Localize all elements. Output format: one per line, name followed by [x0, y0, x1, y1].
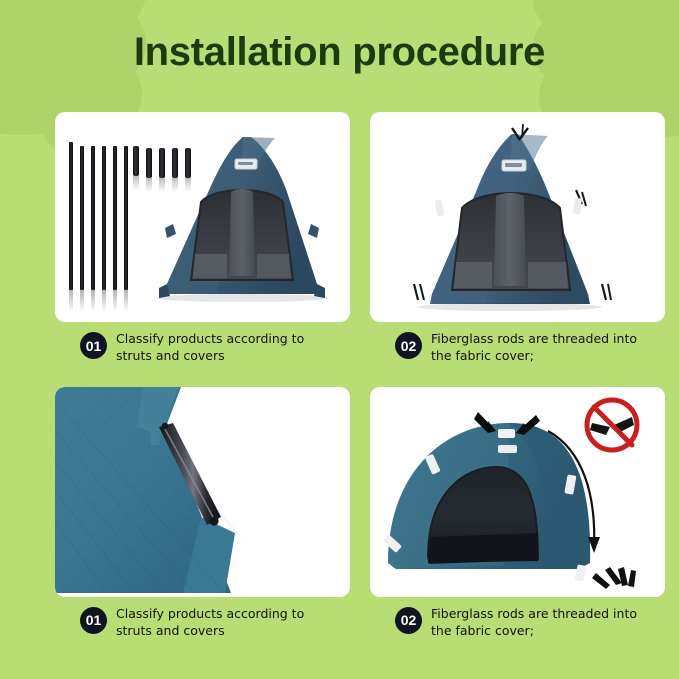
step-caption-text: Fiberglass rods are threaded into the fa… — [431, 606, 646, 640]
step-caption-3: 01 Classify products according to struts… — [55, 606, 350, 640]
paw-toe-icon — [533, 0, 597, 34]
steps-row-top: 01 Classify products according to struts… — [55, 112, 665, 365]
step-card-1: 01 Classify products according to struts… — [55, 112, 350, 365]
poster-root: Installation procedure — [0, 0, 679, 679]
arched-tent-warning-illustration — [370, 387, 665, 597]
impact-burst-icon — [592, 567, 636, 589]
rod-sleeve-closeup-illustration — [55, 387, 350, 597]
step-image-3 — [55, 387, 350, 597]
step-card-3: 01 Classify products according to struts… — [55, 387, 350, 640]
step-caption-text: Classify products according to struts an… — [116, 606, 331, 640]
page-title: Installation procedure — [0, 30, 679, 75]
no-bend-rods-icon — [586, 399, 638, 451]
step-image-4 — [370, 387, 665, 597]
step-number-badge: 02 — [395, 332, 422, 359]
step-image-1 — [55, 112, 350, 322]
steps-grid: 01 Classify products according to struts… — [55, 112, 665, 640]
step-number-badge: 01 — [80, 607, 107, 634]
step-number-badge: 02 — [395, 607, 422, 634]
pet-tent-illustration — [55, 112, 350, 322]
step-caption-1: 01 Classify products according to struts… — [55, 331, 350, 365]
step-card-2: 02 Fiberglass rods are threaded into the… — [370, 112, 665, 365]
step-number-badge: 01 — [80, 332, 107, 359]
step-card-4: 02 Fiberglass rods are threaded into the… — [370, 387, 665, 640]
step-image-2 — [370, 112, 665, 322]
step-caption-4: 02 Fiberglass rods are threaded into the… — [370, 606, 665, 640]
step-caption-text: Classify products according to struts an… — [116, 331, 331, 365]
paw-toe-icon — [78, 0, 146, 30]
step-caption-text: Fiberglass rods are threaded into the fa… — [431, 331, 646, 365]
assembled-tent-illustration — [370, 112, 665, 322]
steps-row-bottom: 01 Classify products according to struts… — [55, 387, 665, 640]
step-caption-2: 02 Fiberglass rods are threaded into the… — [370, 331, 665, 365]
